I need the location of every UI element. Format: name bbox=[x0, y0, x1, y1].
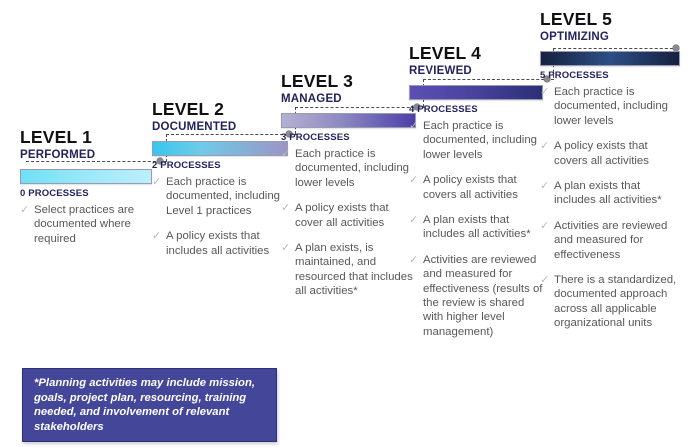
bullet-text: Each practice is documented, including l… bbox=[295, 148, 409, 189]
bullet-text: Activities are reviewed and measured for… bbox=[554, 220, 667, 261]
list-item: ✓ A plan exists, is maintained, and reso… bbox=[281, 241, 416, 299]
planning-activities-footnote: *Planning activities may include mission… bbox=[22, 368, 277, 442]
bullet-text: A plan exists, is maintained, and resour… bbox=[295, 242, 413, 297]
bullet-text: Select practices are documented where re… bbox=[34, 204, 134, 245]
level-1-bar bbox=[20, 169, 152, 184]
level-1-column: LEVEL 1 PERFORMED 0 PROCESSES ✓ Select p… bbox=[20, 128, 152, 257]
bullet-text: Activities are reviewed and measured for… bbox=[423, 254, 542, 338]
check-icon: ✓ bbox=[281, 241, 290, 255]
list-item: ✓ A plan exists that includes all activi… bbox=[409, 213, 543, 242]
check-icon: ✓ bbox=[540, 273, 549, 287]
check-icon: ✓ bbox=[281, 147, 290, 161]
bullet-text: There is a standardized, documented appr… bbox=[554, 274, 676, 329]
level-3-bullets: ✓ Each practice is documented, including… bbox=[281, 147, 416, 299]
list-item: ✓ A policy exists that cover all activit… bbox=[281, 201, 416, 230]
level-2-subtitle: DOCUMENTED bbox=[152, 121, 288, 133]
check-icon: ✓ bbox=[409, 173, 418, 187]
list-item: ✓ A policy exists that covers all activi… bbox=[409, 173, 543, 202]
level-4-column: LEVEL 4 REVIEWED 4 PROCESSES ✓ Each prac… bbox=[409, 44, 543, 350]
level-2-column: LEVEL 2 DOCUMENTED 2 PROCESSES ✓ Each pr… bbox=[152, 100, 288, 269]
list-item: ✓ A policy exists that covers all activi… bbox=[540, 139, 680, 168]
check-icon: ✓ bbox=[20, 203, 29, 217]
list-item: ✓ Activities are reviewed and measured f… bbox=[540, 219, 680, 262]
check-icon: ✓ bbox=[281, 201, 290, 215]
level-2-bullets: ✓ Each practice is documented, including… bbox=[152, 175, 288, 258]
level-2-title: LEVEL 2 bbox=[152, 100, 288, 118]
level-3-bar bbox=[281, 113, 416, 128]
level-2-bar bbox=[152, 141, 288, 156]
level-4-bullets: ✓ Each practice is documented, including… bbox=[409, 119, 543, 339]
check-icon: ✓ bbox=[152, 175, 161, 189]
check-icon: ✓ bbox=[540, 85, 549, 99]
level-4-processes-count: 4 PROCESSES bbox=[409, 105, 543, 115]
level-4-subtitle: REVIEWED bbox=[409, 65, 543, 77]
level-5-column: LEVEL 5 OPTIMIZING 5 PROCESSES ✓ Each pr… bbox=[540, 10, 680, 342]
level-5-subtitle: OPTIMIZING bbox=[540, 31, 680, 43]
level-5-processes-count: 5 PROCESSES bbox=[540, 71, 680, 81]
list-item: ✓ Each practice is documented, including… bbox=[540, 85, 680, 128]
level-3-title: LEVEL 3 bbox=[281, 72, 416, 90]
check-icon: ✓ bbox=[409, 253, 418, 267]
level-3-processes-count: 3 PROCESSES bbox=[281, 133, 416, 143]
list-item: ✓ Each practice is documented, including… bbox=[409, 119, 543, 162]
bullet-text: Each practice is documented, including l… bbox=[423, 120, 537, 161]
check-icon: ✓ bbox=[152, 229, 161, 243]
bullet-text: A policy exists that covers all activiti… bbox=[423, 174, 518, 200]
level-4-bar bbox=[409, 85, 543, 100]
list-item: ✓ Activities are reviewed and measured f… bbox=[409, 253, 543, 339]
bullet-text: A plan exists that includes all activiti… bbox=[554, 180, 662, 206]
check-icon: ✓ bbox=[409, 119, 418, 133]
list-item: ✓ A plan exists that includes all activi… bbox=[540, 179, 680, 208]
level-3-subtitle: MANAGED bbox=[281, 93, 416, 105]
list-item: ✓ There is a standardized, documented ap… bbox=[540, 273, 680, 331]
level-5-title: LEVEL 5 bbox=[540, 10, 680, 28]
bullet-text: A policy exists that includes all activi… bbox=[166, 230, 269, 256]
level-2-processes-count: 2 PROCESSES bbox=[152, 161, 288, 171]
list-item: ✓ A policy exists that includes all acti… bbox=[152, 229, 288, 258]
bullet-text: A policy exists that covers all activiti… bbox=[554, 140, 649, 166]
level-4-title: LEVEL 4 bbox=[409, 44, 543, 62]
level-5-bar bbox=[540, 51, 680, 66]
level-5-bullets: ✓ Each practice is documented, including… bbox=[540, 85, 680, 331]
list-item: ✓ Each practice is documented, including… bbox=[281, 147, 416, 190]
level-1-subtitle: PERFORMED bbox=[20, 149, 152, 161]
bullet-text: A plan exists that includes all activiti… bbox=[423, 214, 531, 240]
bullet-text: Each practice is documented, including l… bbox=[554, 86, 668, 127]
check-icon: ✓ bbox=[540, 219, 549, 233]
level-1-bullets: ✓ Select practices are documented where … bbox=[20, 203, 152, 246]
check-icon: ✓ bbox=[540, 179, 549, 193]
level-3-column: LEVEL 3 MANAGED 3 PROCESSES ✓ Each pract… bbox=[281, 72, 416, 310]
level-1-title: LEVEL 1 bbox=[20, 128, 152, 146]
check-icon: ✓ bbox=[409, 213, 418, 227]
list-item: ✓ Each practice is documented, including… bbox=[152, 175, 288, 218]
bullet-text: Each practice is documented, including L… bbox=[166, 176, 280, 217]
maturity-model-diagram: LEVEL 1 PERFORMED 0 PROCESSES ✓ Select p… bbox=[0, 0, 700, 447]
check-icon: ✓ bbox=[540, 139, 549, 153]
bullet-text: A policy exists that cover all activitie… bbox=[295, 202, 389, 228]
level-1-processes-count: 0 PROCESSES bbox=[20, 189, 152, 199]
list-item: ✓ Select practices are documented where … bbox=[20, 203, 152, 246]
